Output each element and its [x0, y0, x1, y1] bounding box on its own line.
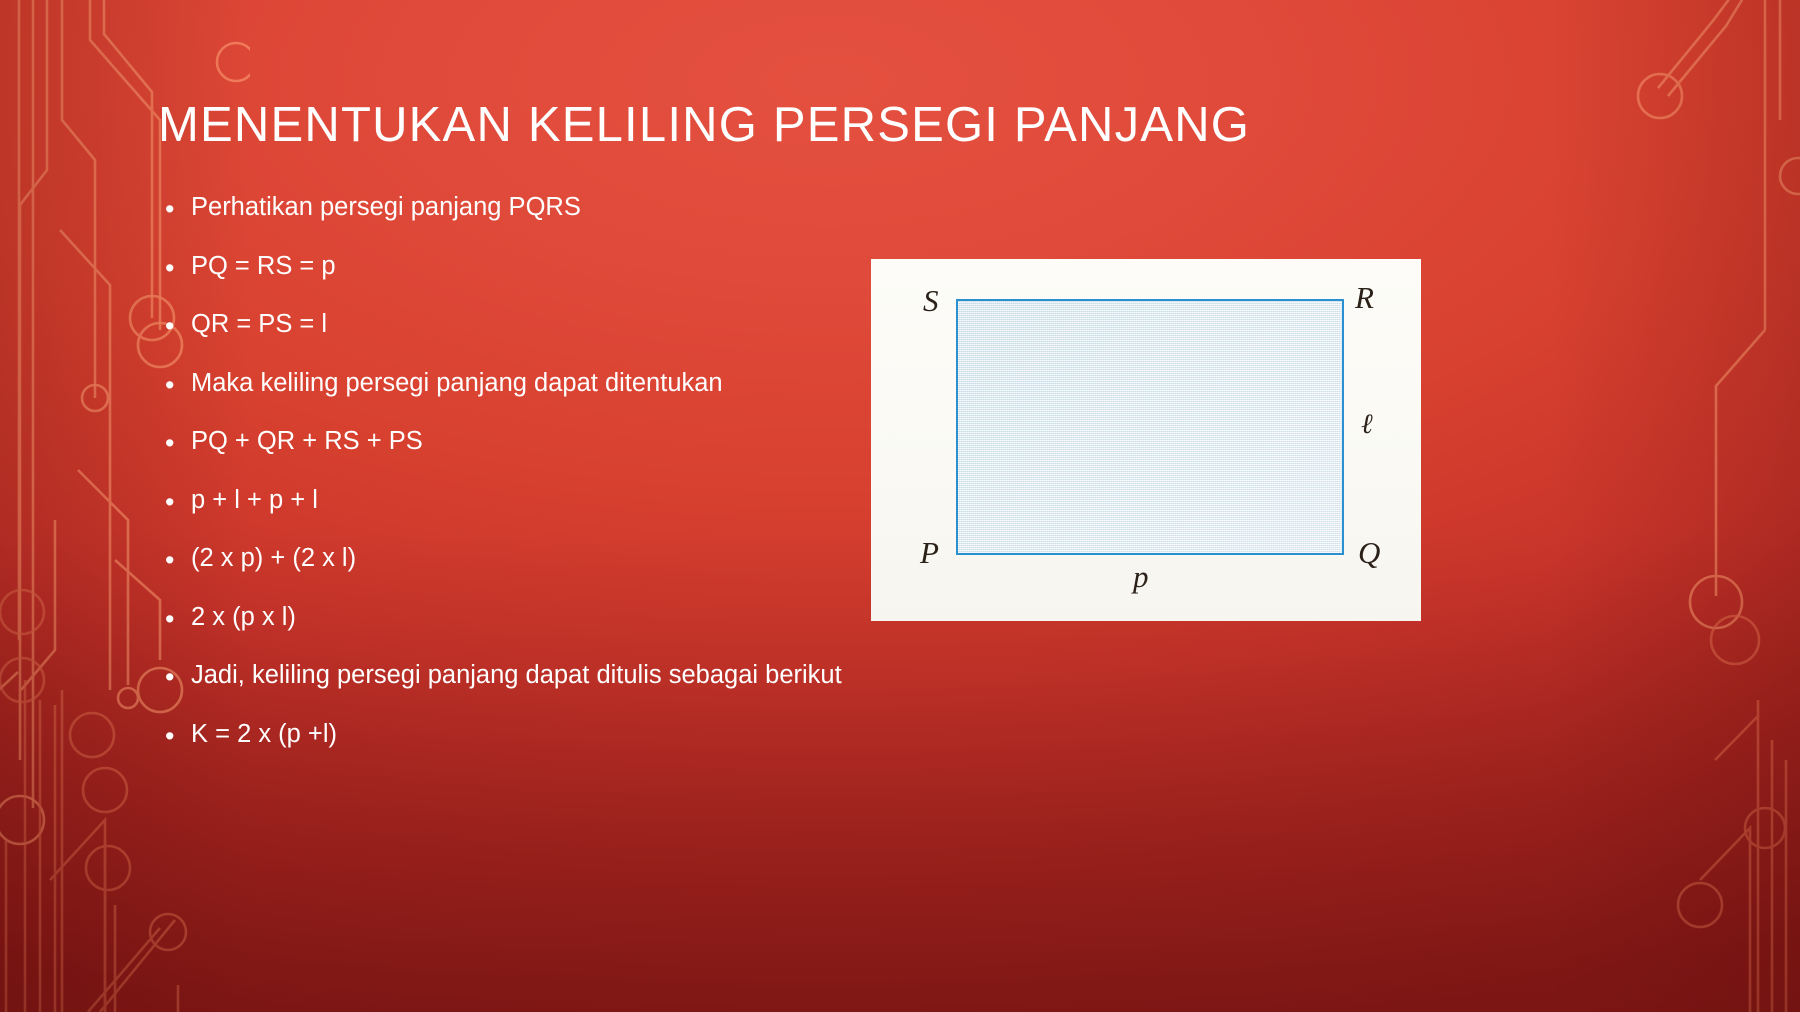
- list-item-label: K = 2 x (p +l): [191, 717, 337, 751]
- bullet-marker-icon: •: [165, 424, 191, 460]
- list-item: • K = 2 x (p +l): [165, 717, 1045, 776]
- bullet-marker-icon: •: [165, 600, 191, 636]
- bullet-marker-icon: •: [165, 190, 191, 226]
- rectangle-diagram-image: S R P Q ℓ p: [871, 259, 1421, 621]
- rectangle-fill-texture: [958, 301, 1342, 553]
- list-item: • Perhatikan persegi panjang PQRS: [165, 190, 1045, 249]
- list-item-label: PQ + QR + RS + PS: [191, 424, 423, 458]
- bullet-marker-icon: •: [165, 541, 191, 577]
- bullet-marker-icon: •: [165, 483, 191, 519]
- vertex-label-p: P: [920, 537, 939, 568]
- vertex-label-r: R: [1355, 282, 1374, 313]
- list-item-label: Maka keliling persegi panjang dapat dite…: [191, 366, 723, 400]
- list-item-label: Jadi, keliling persegi panjang dapat dit…: [191, 658, 842, 692]
- rectangle-shape: [956, 299, 1344, 555]
- side-label-length: ℓ: [1361, 409, 1373, 440]
- list-item-label: (2 x p) + (2 x l): [191, 541, 356, 575]
- bullet-marker-icon: •: [165, 366, 191, 402]
- list-item-label: 2 x (p x l): [191, 600, 296, 634]
- list-item-label: Perhatikan persegi panjang PQRS: [191, 190, 581, 224]
- page-title: MENENTUKAN KELILING PERSEGI PANJANG: [158, 96, 1418, 154]
- side-label-width: p: [1133, 561, 1149, 592]
- bullet-marker-icon: •: [165, 307, 191, 343]
- bullet-marker-icon: •: [165, 717, 191, 753]
- slide: MENENTUKAN KELILING PERSEGI PANJANG • Pe…: [0, 0, 1800, 1012]
- bullet-marker-icon: •: [165, 658, 191, 694]
- list-item-label: QR = PS = l: [191, 307, 327, 341]
- list-item-label: p + l + p + l: [191, 483, 318, 517]
- vertex-label-q: Q: [1358, 537, 1380, 568]
- bullet-marker-icon: •: [165, 249, 191, 285]
- list-item: • Jadi, keliling persegi panjang dapat d…: [165, 658, 1045, 717]
- vertex-label-s: S: [923, 285, 939, 316]
- list-item-label: PQ = RS = p: [191, 249, 336, 283]
